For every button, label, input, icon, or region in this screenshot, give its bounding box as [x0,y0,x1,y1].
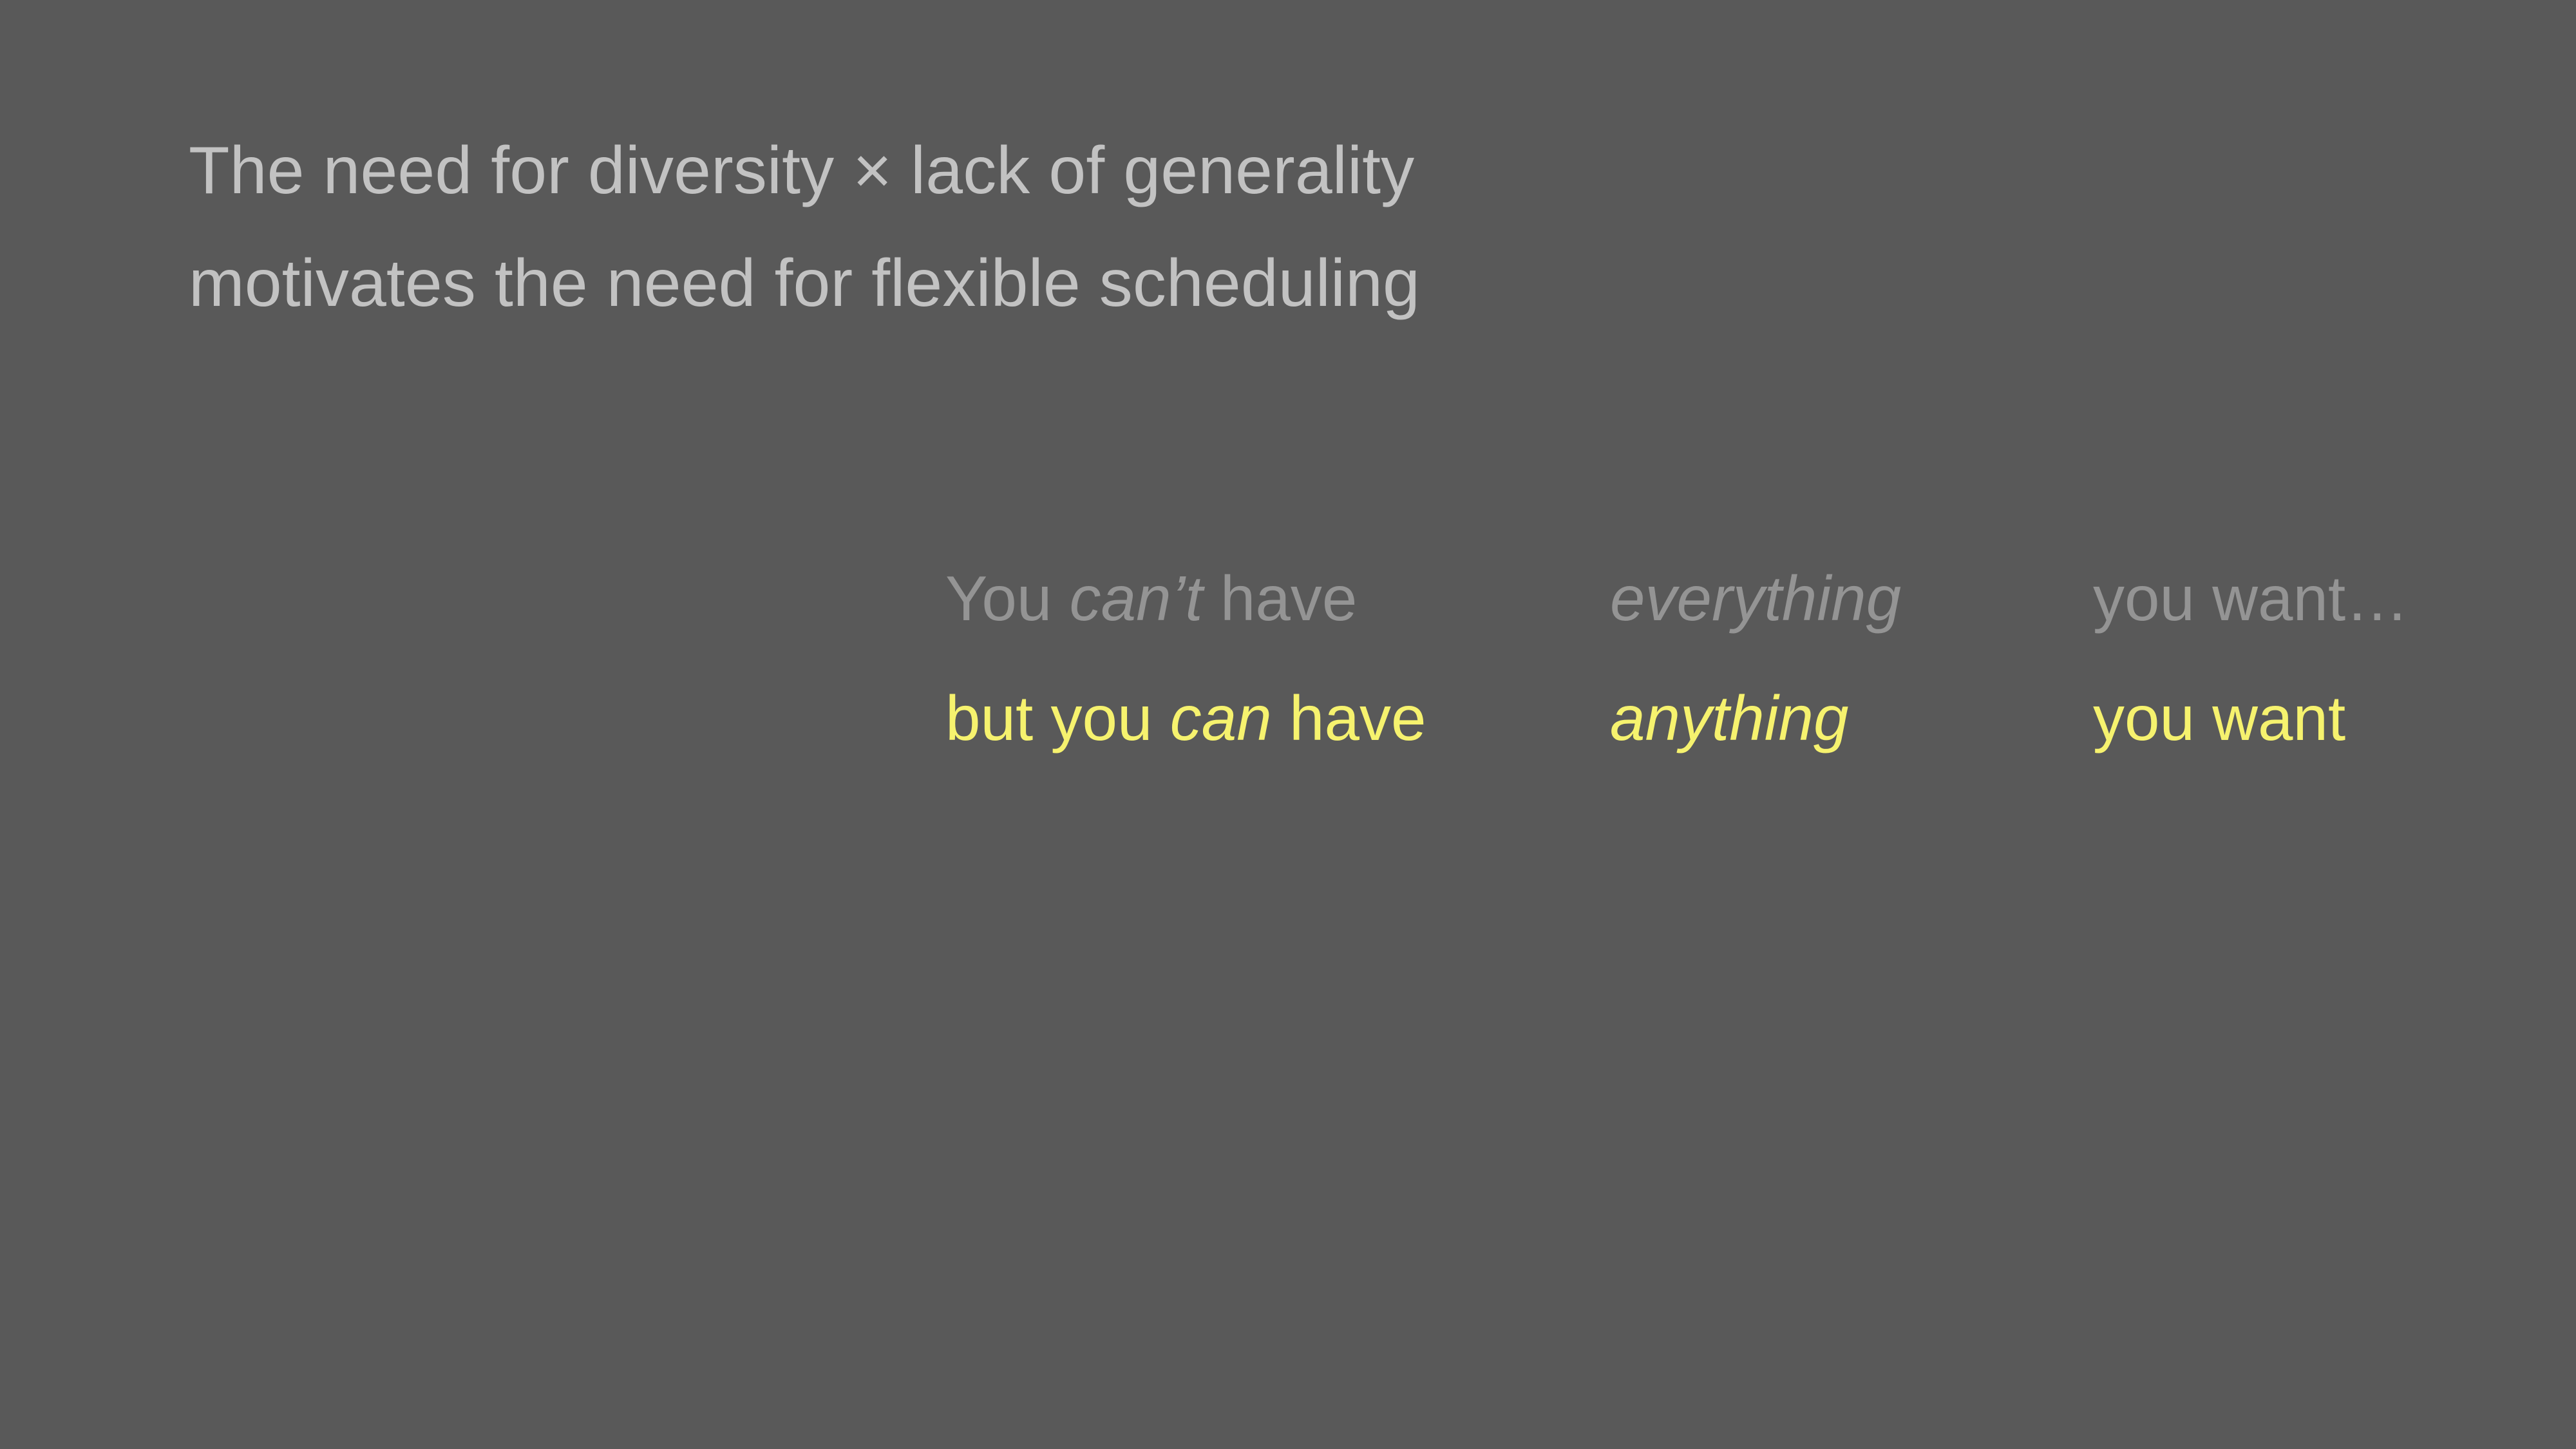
title-line-1: The need for diversity × lack of general… [189,115,2249,227]
title-line-2: motivates the need for flexible scheduli… [189,227,2249,340]
highlight-object: anything [1610,687,2093,750]
muted-object-emphasis: everything [1610,563,1901,634]
highlight-tail: you want [2093,687,2409,750]
comparison-grid: You can’t have everything you want… but … [945,567,2409,806]
muted-clause-emphasis: can’t [1070,563,1203,634]
slide-canvas: The need for diversity × lack of general… [0,0,2576,1449]
highlight-clause-emphasis: can [1170,683,1272,753]
highlight-clause-have: but you can have [945,687,1610,750]
slide-title: The need for diversity × lack of general… [189,115,2249,340]
muted-tail: you want… [2093,567,2409,630]
muted-clause-suffix: have [1203,563,1358,634]
muted-clause-have: You can’t have [945,567,1610,630]
muted-object: everything [1610,567,2093,630]
highlight-object-emphasis: anything [1610,683,1849,753]
muted-clause-prefix: You [945,563,1070,634]
highlight-clause-prefix: but you [945,683,1170,753]
highlight-clause-suffix: have [1272,683,1426,753]
